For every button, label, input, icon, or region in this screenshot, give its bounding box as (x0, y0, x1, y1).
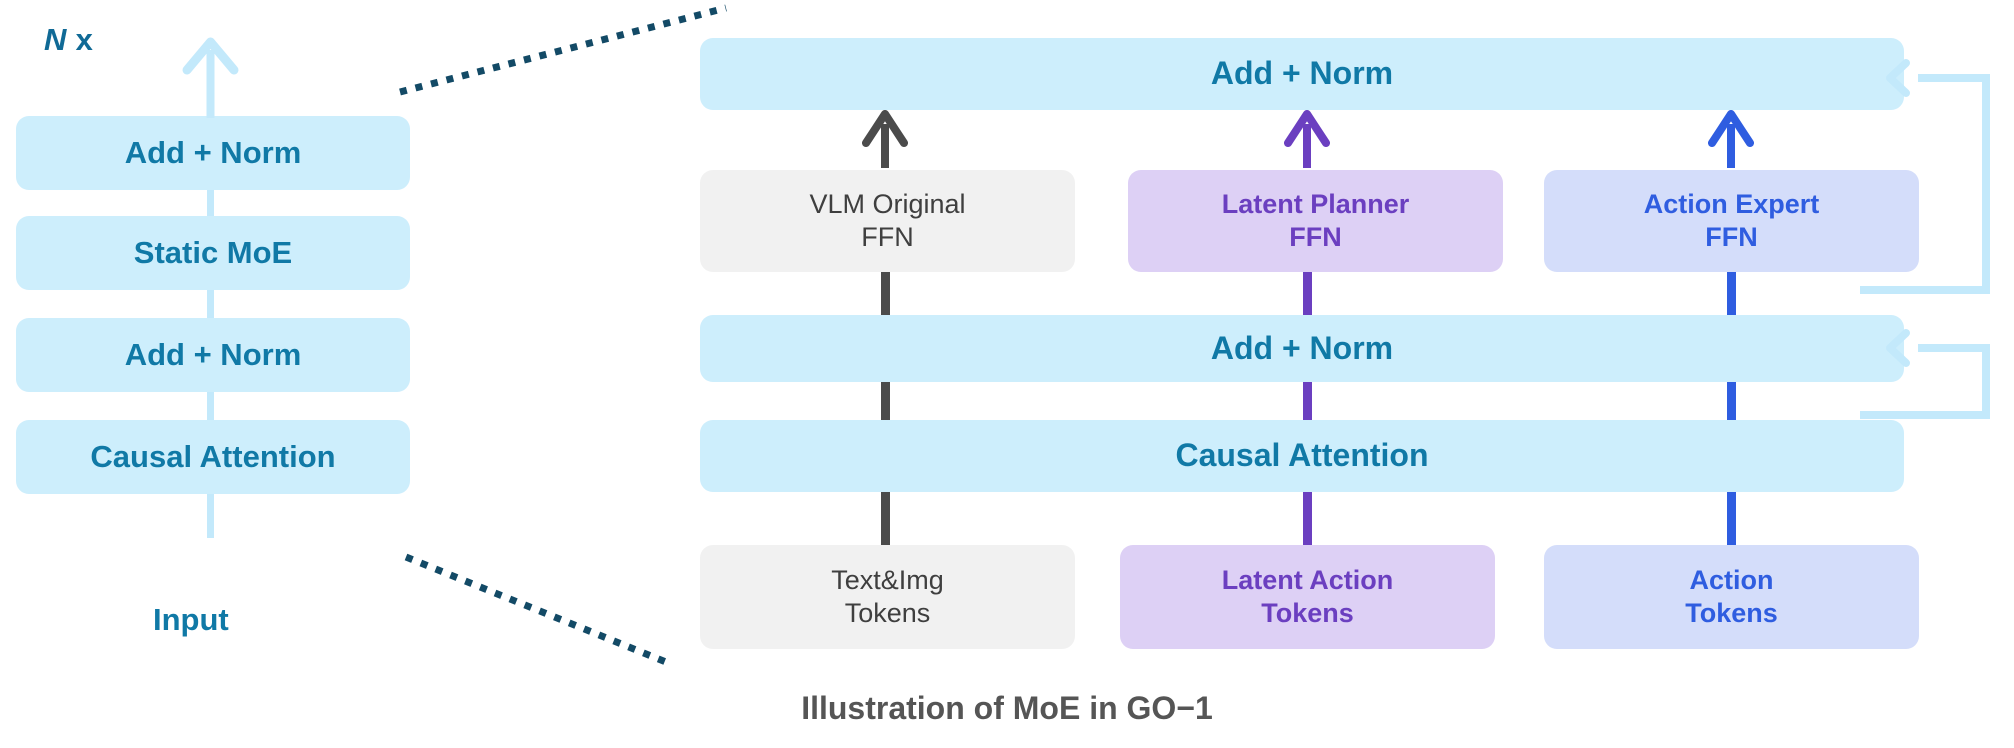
left-spine-3 (207, 390, 214, 422)
connector-action-to-attn (1727, 492, 1736, 545)
token-label: Action Tokens (1685, 564, 1778, 630)
left-spine-2 (207, 288, 214, 320)
left-block-label: Add + Norm (125, 336, 302, 374)
connector-attn-to-addnorm-2 (1727, 382, 1736, 420)
left-block-add-norm-bottom[interactable]: Add + Norm (16, 318, 410, 392)
connector-attn-to-addnorm-1 (1303, 382, 1312, 420)
expert-latent-planner-ffn[interactable]: Latent Planner FFN (1128, 170, 1503, 272)
arrow-vlm-ffn-to-addnorm (866, 114, 904, 168)
connector-addnorm-to-ffn-0 (881, 272, 890, 315)
right-causal-attention[interactable]: Causal Attention (700, 420, 1904, 492)
right-causal-attention-label: Causal Attention (1175, 436, 1428, 475)
right-add-norm-mid[interactable]: Add + Norm (700, 315, 1904, 382)
token-line2: Tokens (845, 598, 931, 628)
arrow-latent-planner-ffn-to-addnorm (1288, 114, 1326, 168)
expert-line2: FFN (1289, 222, 1341, 252)
expert-line2: FFN (861, 222, 913, 252)
expert-label: Action Expert FFN (1644, 188, 1820, 254)
figure-caption: Illustration of MoE in GO−1 (607, 690, 1407, 727)
connector-attn-to-addnorm-0 (881, 382, 890, 420)
token-label: Text&Img Tokens (831, 564, 944, 630)
expert-action-expert-ffn[interactable]: Action Expert FFN (1544, 170, 1919, 272)
token-line2: Tokens (1685, 598, 1778, 628)
left-spine-1 (207, 188, 214, 218)
expert-line1: VLM Original (809, 189, 965, 219)
token-action[interactable]: Action Tokens (1544, 545, 1919, 649)
arrow-action-expert-ffn-to-addnorm (1712, 114, 1750, 168)
token-line2: Tokens (1261, 598, 1354, 628)
token-label: Latent Action Tokens (1222, 564, 1394, 630)
left-spine-bottom (207, 492, 214, 538)
expert-label: Latent Planner FFN (1222, 188, 1410, 254)
connector-latent-to-attn (1303, 492, 1312, 545)
leader-line-top (400, 8, 726, 92)
token-line1: Action (1690, 565, 1774, 595)
connector-text-img-to-attn (881, 492, 890, 545)
token-latent-action[interactable]: Latent Action Tokens (1120, 545, 1495, 649)
figure-canvas: N x Add + Norm Static MoE Add + Norm Cau… (0, 0, 2014, 748)
token-line1: Text&Img (831, 565, 944, 595)
left-block-causal-attention[interactable]: Causal Attention (16, 420, 410, 494)
repeat-count-label: N x (44, 22, 93, 58)
connector-addnorm-to-ffn-1 (1303, 272, 1312, 315)
repeat-count-x: x (67, 22, 93, 57)
expert-line1: Latent Planner (1222, 189, 1410, 219)
right-add-norm-mid-label: Add + Norm (1211, 329, 1393, 368)
left-spine-top (207, 58, 214, 118)
left-block-add-norm-top[interactable]: Add + Norm (16, 116, 410, 190)
input-label: Input (153, 602, 229, 638)
expert-line2: FFN (1705, 222, 1757, 252)
left-block-label: Add + Norm (125, 134, 302, 172)
token-text-img[interactable]: Text&Img Tokens (700, 545, 1075, 649)
repeat-count-n: N (44, 22, 67, 57)
expert-vlm-original-ffn[interactable]: VLM Original FFN (700, 170, 1075, 272)
left-block-label: Static MoE (134, 234, 292, 272)
expert-line1: Action Expert (1644, 189, 1820, 219)
left-block-static-moe[interactable]: Static MoE (16, 216, 410, 290)
leader-line-bottom (406, 557, 666, 662)
connector-addnorm-to-ffn-2 (1727, 272, 1736, 315)
expert-label: VLM Original FFN (809, 188, 965, 254)
right-add-norm-top-label: Add + Norm (1211, 54, 1393, 93)
token-line1: Latent Action (1222, 565, 1394, 595)
left-block-label: Causal Attention (90, 438, 335, 476)
right-add-norm-top[interactable]: Add + Norm (700, 38, 1904, 110)
